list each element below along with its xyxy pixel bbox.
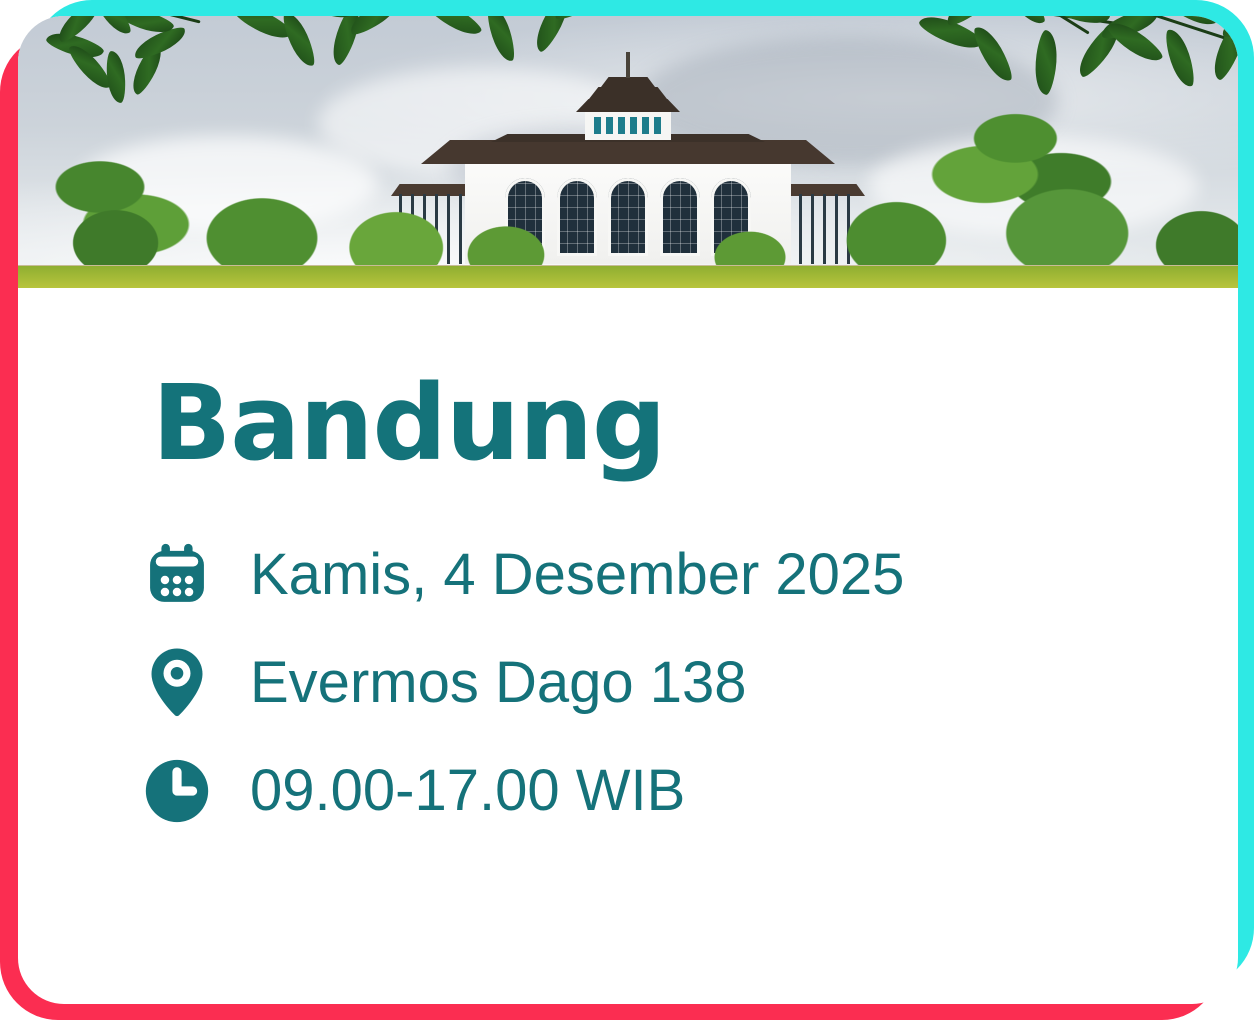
clock-icon bbox=[140, 754, 214, 828]
detail-row-date: Kamis, 4 Desember 2025 bbox=[140, 538, 1238, 612]
detail-row-location: Evermos Dago 138 bbox=[140, 646, 1238, 720]
event-date: Kamis, 4 Desember 2025 bbox=[250, 546, 904, 604]
lawn bbox=[18, 266, 1238, 288]
detail-row-time: 09.00-17.00 WIB bbox=[140, 754, 1238, 828]
tower-spire bbox=[626, 52, 630, 78]
treeline bbox=[18, 154, 1238, 274]
page-title: Bandung bbox=[152, 376, 1238, 472]
calendar-icon bbox=[140, 538, 214, 612]
tower-windows bbox=[594, 117, 662, 134]
event-location-card-stage: Bandung bbox=[0, 0, 1254, 1020]
hero-image bbox=[18, 16, 1238, 288]
event-time: 09.00-17.00 WIB bbox=[250, 762, 685, 820]
card-body: Bandung bbox=[18, 288, 1238, 1004]
event-card[interactable]: Bandung bbox=[18, 16, 1238, 1004]
pagoda-tier bbox=[601, 77, 655, 87]
map-pin-icon bbox=[140, 646, 214, 720]
pagoda-tier bbox=[589, 87, 667, 99]
event-location: Evermos Dago 138 bbox=[250, 654, 746, 712]
pagoda-tier bbox=[576, 99, 680, 112]
